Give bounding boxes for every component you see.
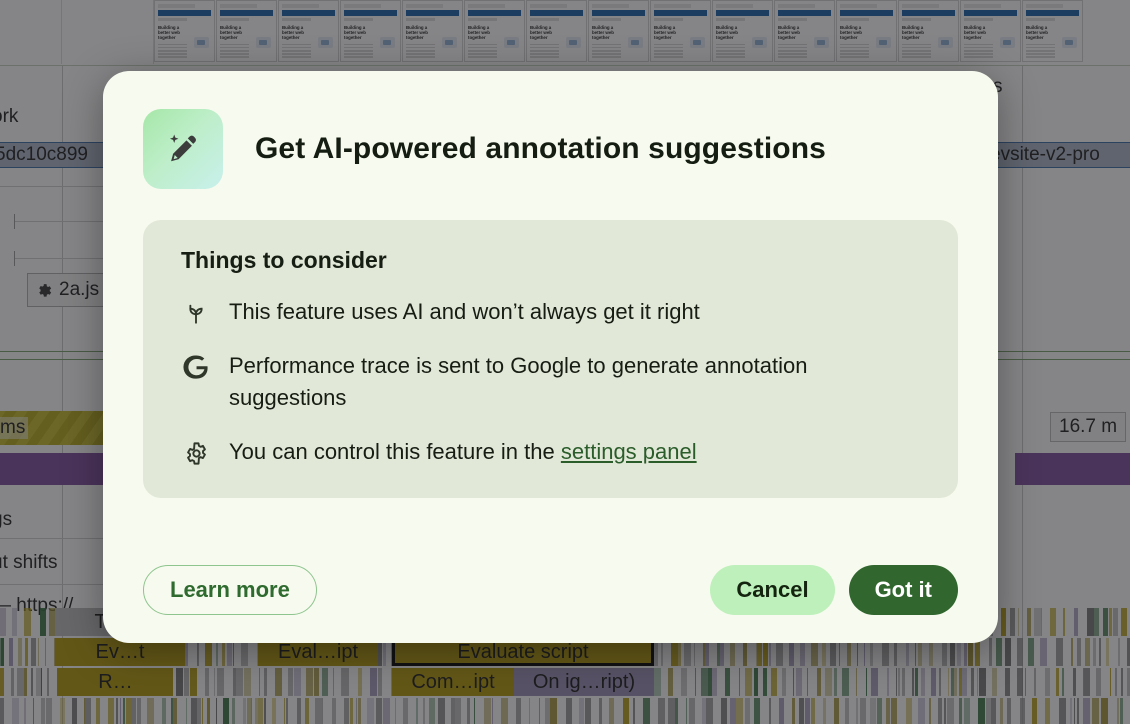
consider-item-ai-accuracy: This feature uses AI and won’t always ge… (181, 296, 924, 328)
consider-item-text: Performance trace is sent to Google to g… (229, 350, 889, 414)
dialog-title: Get AI-powered annotation suggestions (255, 132, 826, 166)
consider-item-text-prefix: You can control this feature in the (229, 439, 561, 464)
learn-more-button[interactable]: Learn more (143, 565, 317, 615)
confirm-got-it-button[interactable]: Got it (849, 565, 958, 615)
magic-pencil-icon (143, 109, 223, 189)
consider-item-trace-upload: Performance trace is sent to Google to g… (181, 350, 924, 414)
consider-item-text: This feature uses AI and won’t always ge… (229, 296, 700, 328)
gear-icon (181, 438, 211, 468)
dialog-actions: Learn more Cancel Got it (143, 565, 958, 643)
dialog-header: Get AI-powered annotation suggestions (143, 109, 958, 189)
consider-item-settings-control: You can control this feature in the sett… (181, 436, 924, 468)
ai-annotation-consent-dialog: Get AI-powered annotation suggestions Th… (103, 71, 998, 643)
panel-title: Things to consider (181, 247, 924, 274)
things-to-consider-panel: Things to consider This feature uses AI … (143, 220, 958, 498)
settings-panel-link[interactable]: settings panel (561, 439, 697, 464)
google-g-icon (181, 352, 211, 382)
sprout-icon (181, 298, 211, 328)
consider-item-text: You can control this feature in the sett… (229, 436, 697, 468)
cancel-button[interactable]: Cancel (710, 565, 834, 615)
